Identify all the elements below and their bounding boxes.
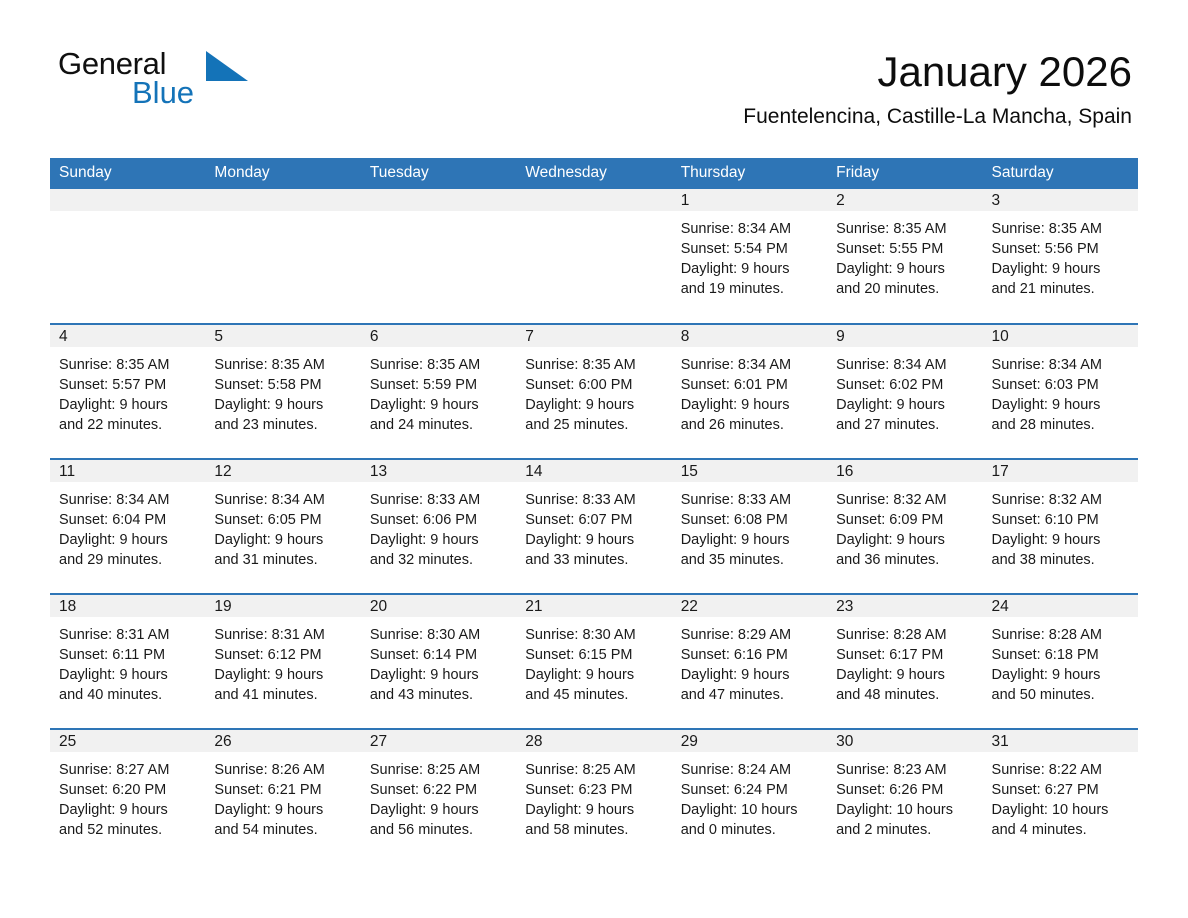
sunrise-text: Sunrise: 8:35 AM — [370, 355, 516, 375]
sunrise-text: Sunrise: 8:35 AM — [836, 219, 982, 239]
day-number: 30 — [827, 730, 982, 752]
daylight-text-line1: Daylight: 10 hours — [681, 800, 827, 820]
calendar-cell-day-7[interactable]: 7Sunrise: 8:35 AMSunset: 6:00 PMDaylight… — [516, 324, 671, 459]
day-number: 18 — [50, 595, 205, 617]
day-number: 2 — [827, 189, 982, 211]
calendar-cell-day-22[interactable]: 22Sunrise: 8:29 AMSunset: 6:16 PMDayligh… — [672, 594, 827, 729]
day-number: 8 — [672, 325, 827, 347]
daylight-text-line1: Daylight: 9 hours — [59, 395, 205, 415]
sunset-text: Sunset: 6:08 PM — [681, 510, 827, 530]
sunrise-text: Sunrise: 8:23 AM — [836, 760, 982, 780]
sunset-text: Sunset: 6:16 PM — [681, 645, 827, 665]
sunrise-text: Sunrise: 8:30 AM — [370, 625, 516, 645]
weekday-header-saturday: Saturday — [983, 158, 1138, 189]
day-details: Sunrise: 8:35 AMSunset: 6:00 PMDaylight:… — [516, 347, 671, 435]
daylight-text-line1: Daylight: 9 hours — [214, 395, 360, 415]
calendar-cell-day-15[interactable]: 15Sunrise: 8:33 AMSunset: 6:08 PMDayligh… — [672, 459, 827, 594]
calendar-week-row: 4Sunrise: 8:35 AMSunset: 5:57 PMDaylight… — [50, 324, 1138, 459]
daylight-text-line2: and 23 minutes. — [214, 415, 360, 435]
day-details: Sunrise: 8:35 AMSunset: 5:55 PMDaylight:… — [827, 211, 982, 299]
calendar-table: SundayMondayTuesdayWednesdayThursdayFrid… — [50, 158, 1138, 864]
daylight-text-line1: Daylight: 9 hours — [525, 530, 671, 550]
day-number: 23 — [827, 595, 982, 617]
calendar-cell-empty — [361, 189, 516, 324]
day-number: 12 — [205, 460, 360, 482]
calendar-cell-day-6[interactable]: 6Sunrise: 8:35 AMSunset: 5:59 PMDaylight… — [361, 324, 516, 459]
sunrise-text: Sunrise: 8:27 AM — [59, 760, 205, 780]
daylight-text-line2: and 2 minutes. — [836, 820, 982, 840]
sunset-text: Sunset: 5:54 PM — [681, 239, 827, 259]
daylight-text-line1: Daylight: 9 hours — [370, 530, 516, 550]
sunset-text: Sunset: 6:23 PM — [525, 780, 671, 800]
calendar-week-row: 25Sunrise: 8:27 AMSunset: 6:20 PMDayligh… — [50, 729, 1138, 864]
calendar-week-row: 1Sunrise: 8:34 AMSunset: 5:54 PMDaylight… — [50, 189, 1138, 324]
calendar-cell-day-10[interactable]: 10Sunrise: 8:34 AMSunset: 6:03 PMDayligh… — [983, 324, 1138, 459]
day-details: Sunrise: 8:34 AMSunset: 5:54 PMDaylight:… — [672, 211, 827, 299]
calendar-cell-day-25[interactable]: 25Sunrise: 8:27 AMSunset: 6:20 PMDayligh… — [50, 729, 205, 864]
sunrise-text: Sunrise: 8:31 AM — [214, 625, 360, 645]
day-details: Sunrise: 8:33 AMSunset: 6:08 PMDaylight:… — [672, 482, 827, 570]
sunset-text: Sunset: 6:00 PM — [525, 375, 671, 395]
daylight-text-line1: Daylight: 9 hours — [525, 665, 671, 685]
daylight-text-line2: and 36 minutes. — [836, 550, 982, 570]
day-details: Sunrise: 8:23 AMSunset: 6:26 PMDaylight:… — [827, 752, 982, 840]
sunset-text: Sunset: 5:56 PM — [992, 239, 1138, 259]
day-number: 6 — [361, 325, 516, 347]
day-number: 5 — [205, 325, 360, 347]
sunset-text: Sunset: 6:09 PM — [836, 510, 982, 530]
sunset-text: Sunset: 6:05 PM — [214, 510, 360, 530]
daylight-text-line2: and 35 minutes. — [681, 550, 827, 570]
daylight-text-line1: Daylight: 9 hours — [836, 259, 982, 279]
sunrise-text: Sunrise: 8:34 AM — [681, 219, 827, 239]
sunset-text: Sunset: 6:20 PM — [59, 780, 205, 800]
day-number: 14 — [516, 460, 671, 482]
daylight-text-line2: and 21 minutes. — [992, 279, 1138, 299]
calendar-cell-day-26[interactable]: 26Sunrise: 8:26 AMSunset: 6:21 PMDayligh… — [205, 729, 360, 864]
day-number: 21 — [516, 595, 671, 617]
day-number: 17 — [983, 460, 1138, 482]
calendar-cell-day-17[interactable]: 17Sunrise: 8:32 AMSunset: 6:10 PMDayligh… — [983, 459, 1138, 594]
sunset-text: Sunset: 6:06 PM — [370, 510, 516, 530]
calendar: SundayMondayTuesdayWednesdayThursdayFrid… — [50, 158, 1138, 864]
day-details: Sunrise: 8:32 AMSunset: 6:10 PMDaylight:… — [983, 482, 1138, 570]
daylight-text-line2: and 26 minutes. — [681, 415, 827, 435]
calendar-cell-day-8[interactable]: 8Sunrise: 8:34 AMSunset: 6:01 PMDaylight… — [672, 324, 827, 459]
daylight-text-line2: and 24 minutes. — [370, 415, 516, 435]
day-number — [516, 189, 671, 211]
day-details: Sunrise: 8:34 AMSunset: 6:03 PMDaylight:… — [983, 347, 1138, 435]
calendar-body: 1Sunrise: 8:34 AMSunset: 5:54 PMDaylight… — [50, 189, 1138, 864]
sunrise-text: Sunrise: 8:32 AM — [836, 490, 982, 510]
sunset-text: Sunset: 6:07 PM — [525, 510, 671, 530]
calendar-cell-day-3[interactable]: 3Sunrise: 8:35 AMSunset: 5:56 PMDaylight… — [983, 189, 1138, 324]
day-number — [205, 189, 360, 211]
daylight-text-line1: Daylight: 9 hours — [681, 530, 827, 550]
day-number: 28 — [516, 730, 671, 752]
calendar-cell-day-4[interactable]: 4Sunrise: 8:35 AMSunset: 5:57 PMDaylight… — [50, 324, 205, 459]
sunset-text: Sunset: 6:12 PM — [214, 645, 360, 665]
calendar-cell-day-19[interactable]: 19Sunrise: 8:31 AMSunset: 6:12 PMDayligh… — [205, 594, 360, 729]
sunrise-text: Sunrise: 8:22 AM — [992, 760, 1138, 780]
daylight-text-line1: Daylight: 10 hours — [992, 800, 1138, 820]
sunset-text: Sunset: 5:57 PM — [59, 375, 205, 395]
day-details: Sunrise: 8:32 AMSunset: 6:09 PMDaylight:… — [827, 482, 982, 570]
day-number: 25 — [50, 730, 205, 752]
calendar-cell-empty — [516, 189, 671, 324]
sunset-text: Sunset: 6:10 PM — [992, 510, 1138, 530]
day-details: Sunrise: 8:30 AMSunset: 6:14 PMDaylight:… — [361, 617, 516, 705]
daylight-text-line1: Daylight: 9 hours — [59, 665, 205, 685]
sunrise-text: Sunrise: 8:34 AM — [59, 490, 205, 510]
sunrise-text: Sunrise: 8:35 AM — [59, 355, 205, 375]
sunset-text: Sunset: 6:18 PM — [992, 645, 1138, 665]
day-details: Sunrise: 8:31 AMSunset: 6:12 PMDaylight:… — [205, 617, 360, 705]
daylight-text-line2: and 56 minutes. — [370, 820, 516, 840]
calendar-cell-day-28[interactable]: 28Sunrise: 8:25 AMSunset: 6:23 PMDayligh… — [516, 729, 671, 864]
sunrise-text: Sunrise: 8:26 AM — [214, 760, 360, 780]
daylight-text-line2: and 20 minutes. — [836, 279, 982, 299]
sunrise-text: Sunrise: 8:35 AM — [525, 355, 671, 375]
daylight-text-line1: Daylight: 9 hours — [992, 259, 1138, 279]
sunrise-text: Sunrise: 8:25 AM — [525, 760, 671, 780]
daylight-text-line1: Daylight: 9 hours — [681, 395, 827, 415]
sunset-text: Sunset: 6:15 PM — [525, 645, 671, 665]
brand-logo[interactable]: General Blue — [58, 48, 318, 118]
day-number: 4 — [50, 325, 205, 347]
daylight-text-line2: and 47 minutes. — [681, 685, 827, 705]
day-details: Sunrise: 8:31 AMSunset: 6:11 PMDaylight:… — [50, 617, 205, 705]
sunset-text: Sunset: 6:03 PM — [992, 375, 1138, 395]
day-number: 24 — [983, 595, 1138, 617]
page-header: General Blue January 2026 Fuentelencina,… — [0, 0, 1188, 118]
sunrise-text: Sunrise: 8:34 AM — [214, 490, 360, 510]
day-number: 11 — [50, 460, 205, 482]
daylight-text-line2: and 38 minutes. — [992, 550, 1138, 570]
day-details: Sunrise: 8:33 AMSunset: 6:07 PMDaylight:… — [516, 482, 671, 570]
calendar-cell-day-13[interactable]: 13Sunrise: 8:33 AMSunset: 6:06 PMDayligh… — [361, 459, 516, 594]
sunset-text: Sunset: 5:55 PM — [836, 239, 982, 259]
day-number: 16 — [827, 460, 982, 482]
day-details: Sunrise: 8:25 AMSunset: 6:22 PMDaylight:… — [361, 752, 516, 840]
calendar-cell-day-24[interactable]: 24Sunrise: 8:28 AMSunset: 6:18 PMDayligh… — [983, 594, 1138, 729]
day-number: 27 — [361, 730, 516, 752]
daylight-text-line2: and 43 minutes. — [370, 685, 516, 705]
daylight-text-line2: and 45 minutes. — [525, 685, 671, 705]
day-number: 1 — [672, 189, 827, 211]
sunset-text: Sunset: 6:04 PM — [59, 510, 205, 530]
sunrise-text: Sunrise: 8:29 AM — [681, 625, 827, 645]
daylight-text-line1: Daylight: 9 hours — [214, 665, 360, 685]
daylight-text-line1: Daylight: 9 hours — [370, 665, 516, 685]
weekday-header-thursday: Thursday — [672, 158, 827, 189]
calendar-week-row: 11Sunrise: 8:34 AMSunset: 6:04 PMDayligh… — [50, 459, 1138, 594]
sunrise-text: Sunrise: 8:32 AM — [992, 490, 1138, 510]
page-title: January 2026 — [743, 50, 1132, 94]
weekday-header-friday: Friday — [827, 158, 982, 189]
daylight-text-line1: Daylight: 9 hours — [525, 395, 671, 415]
calendar-cell-day-31[interactable]: 31Sunrise: 8:22 AMSunset: 6:27 PMDayligh… — [983, 729, 1138, 864]
day-number: 7 — [516, 325, 671, 347]
sunset-text: Sunset: 5:59 PM — [370, 375, 516, 395]
brand-name-blue: Blue — [132, 77, 194, 108]
day-number: 9 — [827, 325, 982, 347]
daylight-text-line2: and 52 minutes. — [59, 820, 205, 840]
daylight-text-line1: Daylight: 9 hours — [214, 800, 360, 820]
calendar-cell-day-1[interactable]: 1Sunrise: 8:34 AMSunset: 5:54 PMDaylight… — [672, 189, 827, 324]
day-number: 29 — [672, 730, 827, 752]
daylight-text-line2: and 27 minutes. — [836, 415, 982, 435]
calendar-cell-day-21[interactable]: 21Sunrise: 8:30 AMSunset: 6:15 PMDayligh… — [516, 594, 671, 729]
sunset-text: Sunset: 6:21 PM — [214, 780, 360, 800]
sunset-text: Sunset: 6:01 PM — [681, 375, 827, 395]
day-details: Sunrise: 8:24 AMSunset: 6:24 PMDaylight:… — [672, 752, 827, 840]
calendar-cell-empty — [50, 189, 205, 324]
daylight-text-line2: and 50 minutes. — [992, 685, 1138, 705]
daylight-text-line2: and 48 minutes. — [836, 685, 982, 705]
daylight-text-line1: Daylight: 10 hours — [836, 800, 982, 820]
calendar-cell-day-20[interactable]: 20Sunrise: 8:30 AMSunset: 6:14 PMDayligh… — [361, 594, 516, 729]
day-number: 26 — [205, 730, 360, 752]
daylight-text-line2: and 31 minutes. — [214, 550, 360, 570]
sunset-text: Sunset: 6:17 PM — [836, 645, 982, 665]
day-details: Sunrise: 8:26 AMSunset: 6:21 PMDaylight:… — [205, 752, 360, 840]
sunrise-text: Sunrise: 8:35 AM — [992, 219, 1138, 239]
day-number: 13 — [361, 460, 516, 482]
sunrise-text: Sunrise: 8:24 AM — [681, 760, 827, 780]
daylight-text-line1: Daylight: 9 hours — [836, 665, 982, 685]
sunrise-text: Sunrise: 8:34 AM — [992, 355, 1138, 375]
calendar-cell-day-12[interactable]: 12Sunrise: 8:34 AMSunset: 6:05 PMDayligh… — [205, 459, 360, 594]
day-number — [361, 189, 516, 211]
day-details: Sunrise: 8:35 AMSunset: 5:59 PMDaylight:… — [361, 347, 516, 435]
day-details: Sunrise: 8:34 AMSunset: 6:04 PMDaylight:… — [50, 482, 205, 570]
sunset-text: Sunset: 6:02 PM — [836, 375, 982, 395]
calendar-header-row: SundayMondayTuesdayWednesdayThursdayFrid… — [50, 158, 1138, 189]
day-details: Sunrise: 8:34 AMSunset: 6:02 PMDaylight:… — [827, 347, 982, 435]
day-details: Sunrise: 8:34 AMSunset: 6:05 PMDaylight:… — [205, 482, 360, 570]
sunrise-text: Sunrise: 8:34 AM — [836, 355, 982, 375]
sunrise-text: Sunrise: 8:35 AM — [214, 355, 360, 375]
daylight-text-line1: Daylight: 9 hours — [836, 395, 982, 415]
sunset-text: Sunset: 6:22 PM — [370, 780, 516, 800]
daylight-text-line1: Daylight: 9 hours — [681, 665, 827, 685]
daylight-text-line2: and 41 minutes. — [214, 685, 360, 705]
daylight-text-line2: and 54 minutes. — [214, 820, 360, 840]
sunrise-text: Sunrise: 8:25 AM — [370, 760, 516, 780]
day-number — [50, 189, 205, 211]
daylight-text-line1: Daylight: 9 hours — [992, 395, 1138, 415]
sunset-text: Sunset: 5:58 PM — [214, 375, 360, 395]
day-details: Sunrise: 8:28 AMSunset: 6:18 PMDaylight:… — [983, 617, 1138, 705]
calendar-cell-day-29[interactable]: 29Sunrise: 8:24 AMSunset: 6:24 PMDayligh… — [672, 729, 827, 864]
day-details: Sunrise: 8:22 AMSunset: 6:27 PMDaylight:… — [983, 752, 1138, 840]
daylight-text-line1: Daylight: 9 hours — [59, 800, 205, 820]
daylight-text-line1: Daylight: 9 hours — [836, 530, 982, 550]
day-details: Sunrise: 8:29 AMSunset: 6:16 PMDaylight:… — [672, 617, 827, 705]
calendar-cell-day-11[interactable]: 11Sunrise: 8:34 AMSunset: 6:04 PMDayligh… — [50, 459, 205, 594]
daylight-text-line2: and 32 minutes. — [370, 550, 516, 570]
calendar-cell-day-18[interactable]: 18Sunrise: 8:31 AMSunset: 6:11 PMDayligh… — [50, 594, 205, 729]
sunset-text: Sunset: 6:26 PM — [836, 780, 982, 800]
weekday-header-monday: Monday — [205, 158, 360, 189]
sunset-text: Sunset: 6:24 PM — [681, 780, 827, 800]
daylight-text-line2: and 33 minutes. — [525, 550, 671, 570]
daylight-text-line2: and 19 minutes. — [681, 279, 827, 299]
day-details: Sunrise: 8:35 AMSunset: 5:57 PMDaylight:… — [50, 347, 205, 435]
day-details: Sunrise: 8:33 AMSunset: 6:06 PMDaylight:… — [361, 482, 516, 570]
sunrise-text: Sunrise: 8:28 AM — [836, 625, 982, 645]
day-number: 15 — [672, 460, 827, 482]
day-number: 19 — [205, 595, 360, 617]
daylight-text-line2: and 58 minutes. — [525, 820, 671, 840]
title-block: January 2026 Fuentelencina, Castille-La … — [743, 50, 1132, 129]
day-details: Sunrise: 8:34 AMSunset: 6:01 PMDaylight:… — [672, 347, 827, 435]
sunrise-text: Sunrise: 8:33 AM — [525, 490, 671, 510]
calendar-cell-day-5[interactable]: 5Sunrise: 8:35 AMSunset: 5:58 PMDaylight… — [205, 324, 360, 459]
day-number: 22 — [672, 595, 827, 617]
sunrise-text: Sunrise: 8:28 AM — [992, 625, 1138, 645]
sunrise-text: Sunrise: 8:34 AM — [681, 355, 827, 375]
daylight-text-line2: and 22 minutes. — [59, 415, 205, 435]
calendar-cell-day-2[interactable]: 2Sunrise: 8:35 AMSunset: 5:55 PMDaylight… — [827, 189, 982, 324]
daylight-text-line1: Daylight: 9 hours — [525, 800, 671, 820]
day-details: Sunrise: 8:35 AMSunset: 5:56 PMDaylight:… — [983, 211, 1138, 299]
daylight-text-line1: Daylight: 9 hours — [214, 530, 360, 550]
calendar-cell-day-9[interactable]: 9Sunrise: 8:34 AMSunset: 6:02 PMDaylight… — [827, 324, 982, 459]
daylight-text-line1: Daylight: 9 hours — [992, 530, 1138, 550]
calendar-week-row: 18Sunrise: 8:31 AMSunset: 6:11 PMDayligh… — [50, 594, 1138, 729]
day-number: 3 — [983, 189, 1138, 211]
daylight-text-line1: Daylight: 9 hours — [370, 395, 516, 415]
day-details: Sunrise: 8:25 AMSunset: 6:23 PMDaylight:… — [516, 752, 671, 840]
day-details: Sunrise: 8:27 AMSunset: 6:20 PMDaylight:… — [50, 752, 205, 840]
daylight-text-line2: and 0 minutes. — [681, 820, 827, 840]
calendar-cell-empty — [205, 189, 360, 324]
sunset-text: Sunset: 6:14 PM — [370, 645, 516, 665]
day-number: 20 — [361, 595, 516, 617]
daylight-text-line1: Daylight: 9 hours — [681, 259, 827, 279]
day-details: Sunrise: 8:28 AMSunset: 6:17 PMDaylight:… — [827, 617, 982, 705]
daylight-text-line2: and 40 minutes. — [59, 685, 205, 705]
daylight-text-line2: and 29 minutes. — [59, 550, 205, 570]
day-number: 31 — [983, 730, 1138, 752]
sunrise-text: Sunrise: 8:31 AM — [59, 625, 205, 645]
daylight-text-line1: Daylight: 9 hours — [59, 530, 205, 550]
weekday-header-wednesday: Wednesday — [516, 158, 671, 189]
daylight-text-line1: Daylight: 9 hours — [992, 665, 1138, 685]
page-subtitle: Fuentelencina, Castille-La Mancha, Spain — [743, 105, 1132, 129]
weekday-header-sunday: Sunday — [50, 158, 205, 189]
calendar-cell-day-23[interactable]: 23Sunrise: 8:28 AMSunset: 6:17 PMDayligh… — [827, 594, 982, 729]
weekday-header-tuesday: Tuesday — [361, 158, 516, 189]
calendar-cell-day-16[interactable]: 16Sunrise: 8:32 AMSunset: 6:09 PMDayligh… — [827, 459, 982, 594]
day-details: Sunrise: 8:30 AMSunset: 6:15 PMDaylight:… — [516, 617, 671, 705]
sunrise-text: Sunrise: 8:33 AM — [681, 490, 827, 510]
daylight-text-line2: and 28 minutes. — [992, 415, 1138, 435]
daylight-text-line2: and 4 minutes. — [992, 820, 1138, 840]
daylight-text-line1: Daylight: 9 hours — [370, 800, 516, 820]
calendar-cell-day-14[interactable]: 14Sunrise: 8:33 AMSunset: 6:07 PMDayligh… — [516, 459, 671, 594]
calendar-cell-day-27[interactable]: 27Sunrise: 8:25 AMSunset: 6:22 PMDayligh… — [361, 729, 516, 864]
day-details: Sunrise: 8:35 AMSunset: 5:58 PMDaylight:… — [205, 347, 360, 435]
day-number: 10 — [983, 325, 1138, 347]
sunrise-text: Sunrise: 8:33 AM — [370, 490, 516, 510]
sunset-text: Sunset: 6:27 PM — [992, 780, 1138, 800]
sunrise-text: Sunrise: 8:30 AM — [525, 625, 671, 645]
sunset-text: Sunset: 6:11 PM — [59, 645, 205, 665]
daylight-text-line2: and 25 minutes. — [525, 415, 671, 435]
triangle-icon — [206, 51, 248, 81]
calendar-cell-day-30[interactable]: 30Sunrise: 8:23 AMSunset: 6:26 PMDayligh… — [827, 729, 982, 864]
